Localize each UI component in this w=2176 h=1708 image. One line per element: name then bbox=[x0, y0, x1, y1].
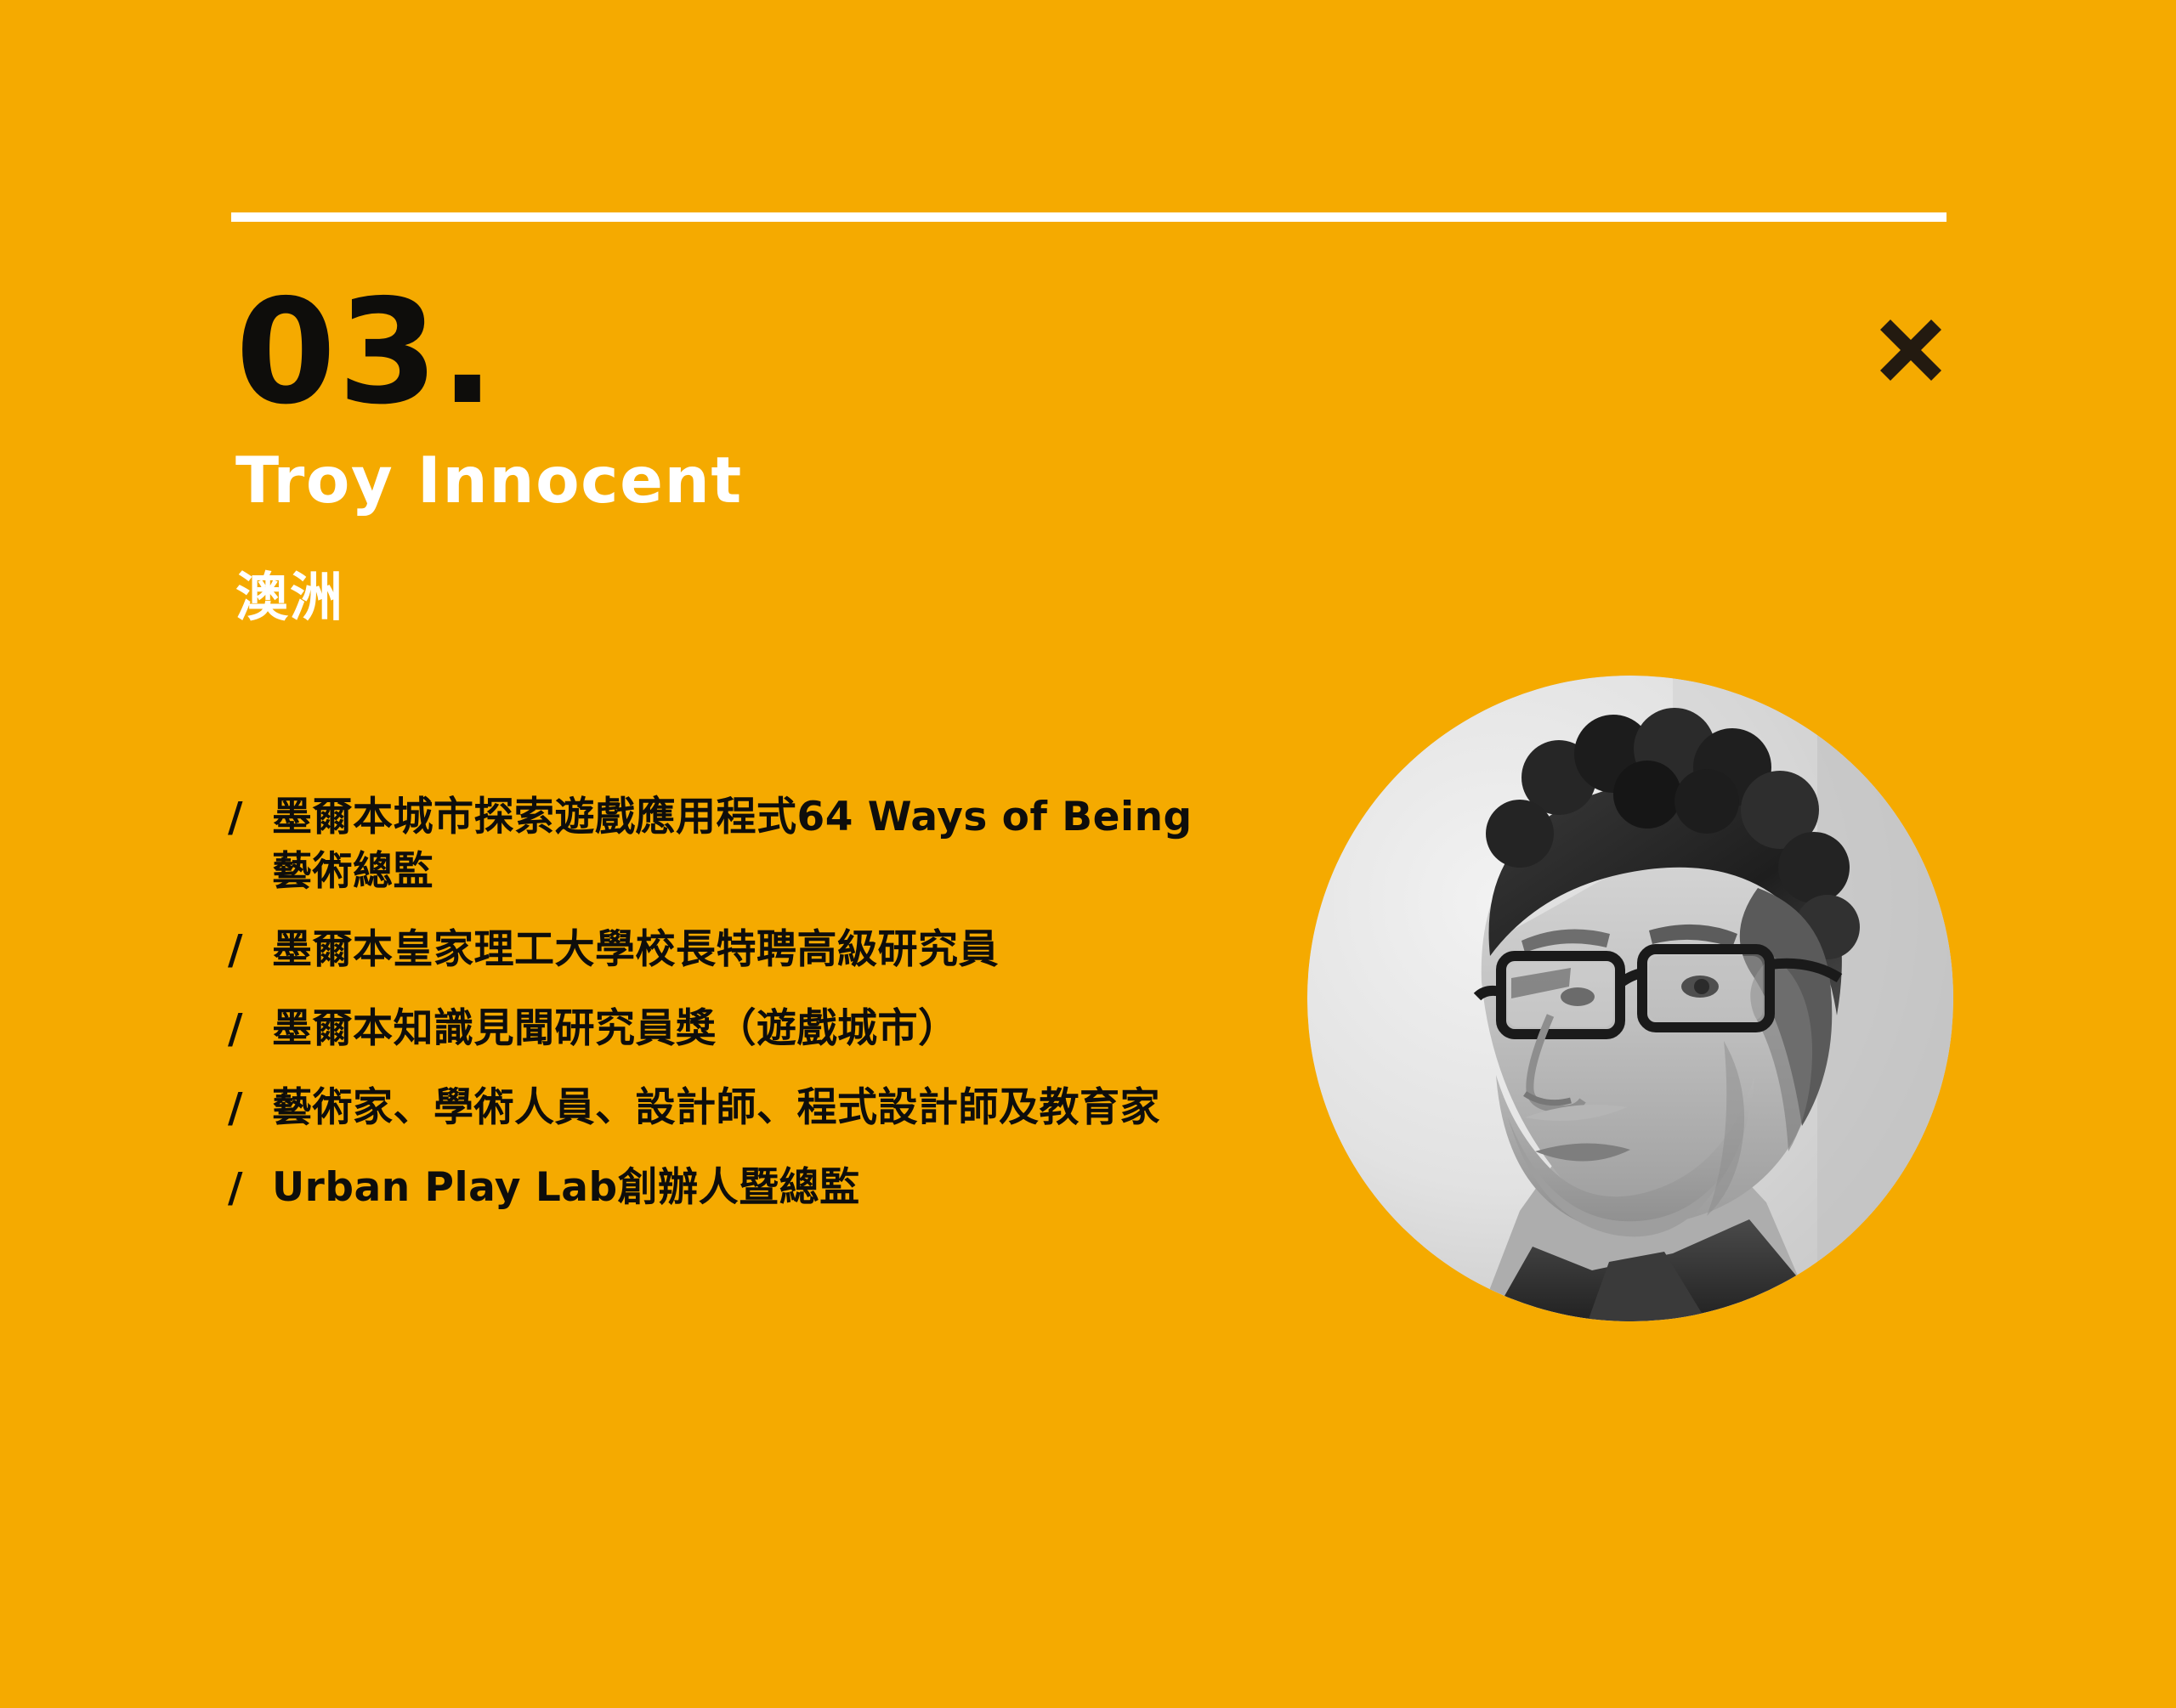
bullet-slash-icon: / bbox=[228, 790, 272, 846]
header-divider bbox=[231, 212, 1946, 222]
list-item: / 藝術家、學術人員、設計師、程式設計師及教育家 bbox=[228, 1081, 1214, 1136]
credential-text: 墨爾本皇家理工大學校長特聘高級研究員 bbox=[272, 923, 1214, 977]
bullet-slash-icon: / bbox=[228, 923, 272, 978]
credential-text: 藝術家、學術人員、設計師、程式設計師及教育家 bbox=[272, 1081, 1214, 1135]
list-item: / 墨爾本城市探索遊戲應用程式64 Ways of Being藝術總監 bbox=[228, 790, 1214, 899]
speaker-profile-slide: 03. Troy Innocent 澳洲 / 墨爾本城市探索遊戲應用程式64 W… bbox=[0, 0, 2176, 1708]
speaker-name: Troy Innocent bbox=[235, 449, 743, 512]
credential-text: Urban Play Lab創辦人暨總監 bbox=[272, 1161, 1214, 1215]
bullet-slash-icon: / bbox=[228, 1002, 272, 1057]
credential-text: 墨爾本城市探索遊戲應用程式64 Ways of Being藝術總監 bbox=[272, 790, 1214, 899]
list-item: / 墨爾本知識見聞研究員獎（遊戲城市） bbox=[228, 1002, 1214, 1057]
credential-text: 墨爾本知識見聞研究員獎（遊戲城市） bbox=[272, 1002, 1214, 1056]
list-item: / 墨爾本皇家理工大學校長特聘高級研究員 bbox=[228, 923, 1214, 978]
avatar bbox=[1307, 676, 1953, 1321]
list-item: / Urban Play Lab創辦人暨總監 bbox=[228, 1161, 1214, 1216]
bullet-slash-icon: / bbox=[228, 1081, 272, 1136]
speaker-country: 澳洲 bbox=[235, 571, 344, 624]
page-title: 03. bbox=[235, 280, 496, 425]
close-icon[interactable] bbox=[1867, 306, 1955, 394]
bullet-slash-icon: / bbox=[228, 1161, 272, 1216]
credentials-list: / 墨爾本城市探索遊戲應用程式64 Ways of Being藝術總監 / 墨爾… bbox=[228, 790, 1214, 1240]
